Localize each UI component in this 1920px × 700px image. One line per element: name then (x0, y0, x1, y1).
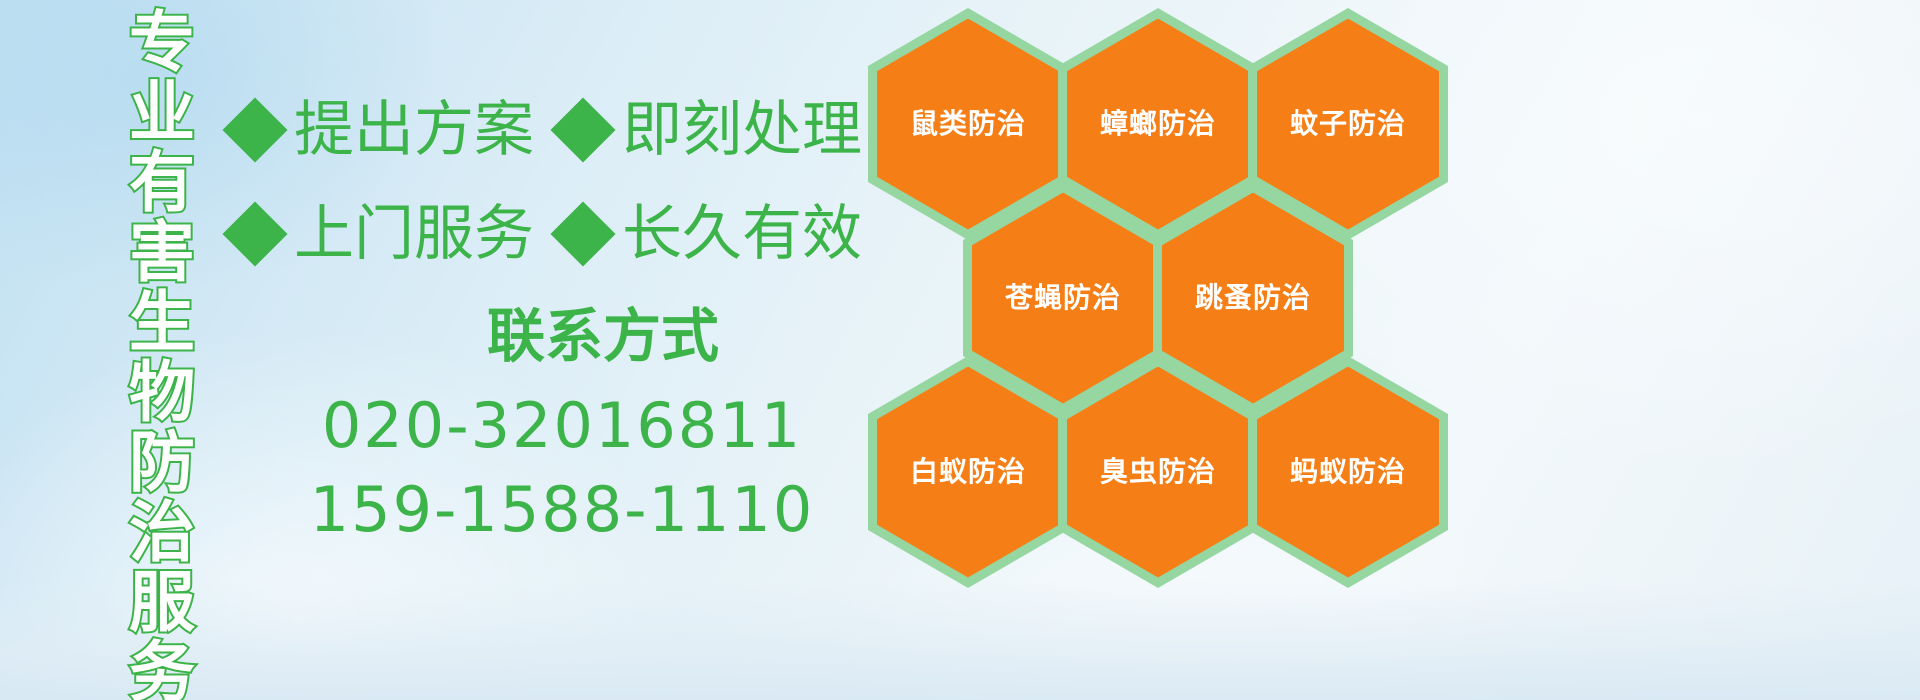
feature-label: 提出方案 (294, 100, 534, 160)
service-label: 跳蚤防治 (1195, 283, 1311, 313)
feature-item-onsite-service: 上门服务 (232, 204, 534, 264)
diamond-bullet-icon (222, 201, 287, 266)
hex-inner: 蟑螂防治 (1067, 19, 1249, 230)
hex-inner: 蚂蚁防治 (1257, 367, 1439, 578)
hex-inner: 蚊子防治 (1257, 19, 1439, 230)
diamond-bullet-icon (550, 97, 615, 162)
vertical-headline-char: 物 (129, 358, 195, 428)
vertical-headline-char: 业 (129, 78, 195, 148)
hex-inner: 白蚁防治 (877, 367, 1059, 578)
service-label: 蚂蚁防治 (1290, 457, 1406, 487)
feature-label: 即刻处理 (622, 100, 862, 160)
hex-inner: 苍蝇防治 (972, 193, 1154, 404)
service-label: 臭虫防治 (1100, 457, 1216, 487)
diamond-bullet-icon (550, 201, 615, 266)
hex-inner: 跳蚤防治 (1162, 193, 1344, 404)
feature-item-propose-plan: 提出方案 (232, 100, 534, 160)
vertical-headline-char: 害 (129, 218, 195, 288)
vertical-headline-char: 生 (129, 288, 195, 358)
vertical-headline: 专 业 有 害 生 物 防 治 服 务 (106, 8, 218, 568)
feature-label: 上门服务 (294, 204, 534, 264)
diamond-bullet-icon (222, 97, 287, 162)
pest-control-banner: 专 业 有 害 生 物 防 治 服 务 提出方案 即刻处理 上门服务 (0, 0, 1920, 700)
service-label: 苍蝇防治 (1005, 283, 1121, 313)
service-label: 白蚁防治 (910, 457, 1026, 487)
service-hexagon-grid: 鼠类防治 蟑螂防治 蚊子防治 苍蝇防治 跳蚤防治 白蚁防治 (860, 0, 1480, 560)
vertical-headline-char: 专 (129, 8, 195, 78)
vertical-headline-char: 防 (129, 428, 195, 498)
vertical-headline-char: 有 (129, 148, 195, 218)
contact-title: 联系方式 (314, 300, 892, 372)
service-label: 鼠类防治 (910, 109, 1026, 139)
feature-row-2: 上门服务 长久有效 (232, 182, 872, 286)
phone-mobile[interactable]: 159-1588-1110 (232, 468, 892, 552)
hex-inner: 鼠类防治 (877, 19, 1059, 230)
service-label: 蚊子防治 (1290, 109, 1406, 139)
feature-label: 长久有效 (622, 204, 862, 264)
hex-inner: 臭虫防治 (1067, 367, 1249, 578)
vertical-headline-char: 治 (129, 498, 195, 568)
feature-item-immediate-handling: 即刻处理 (560, 100, 862, 160)
vertical-headline-char: 务 (129, 638, 195, 700)
feature-row-1: 提出方案 即刻处理 (232, 78, 872, 182)
vertical-headline-char: 服 (129, 568, 195, 638)
contact-block: 联系方式 020-32016811 159-1588-1110 (232, 300, 892, 552)
feature-item-long-lasting: 长久有效 (560, 204, 862, 264)
feature-list: 提出方案 即刻处理 上门服务 长久有效 (232, 78, 872, 286)
service-label: 蟑螂防治 (1100, 109, 1216, 139)
phone-landline[interactable]: 020-32016811 (232, 384, 892, 468)
